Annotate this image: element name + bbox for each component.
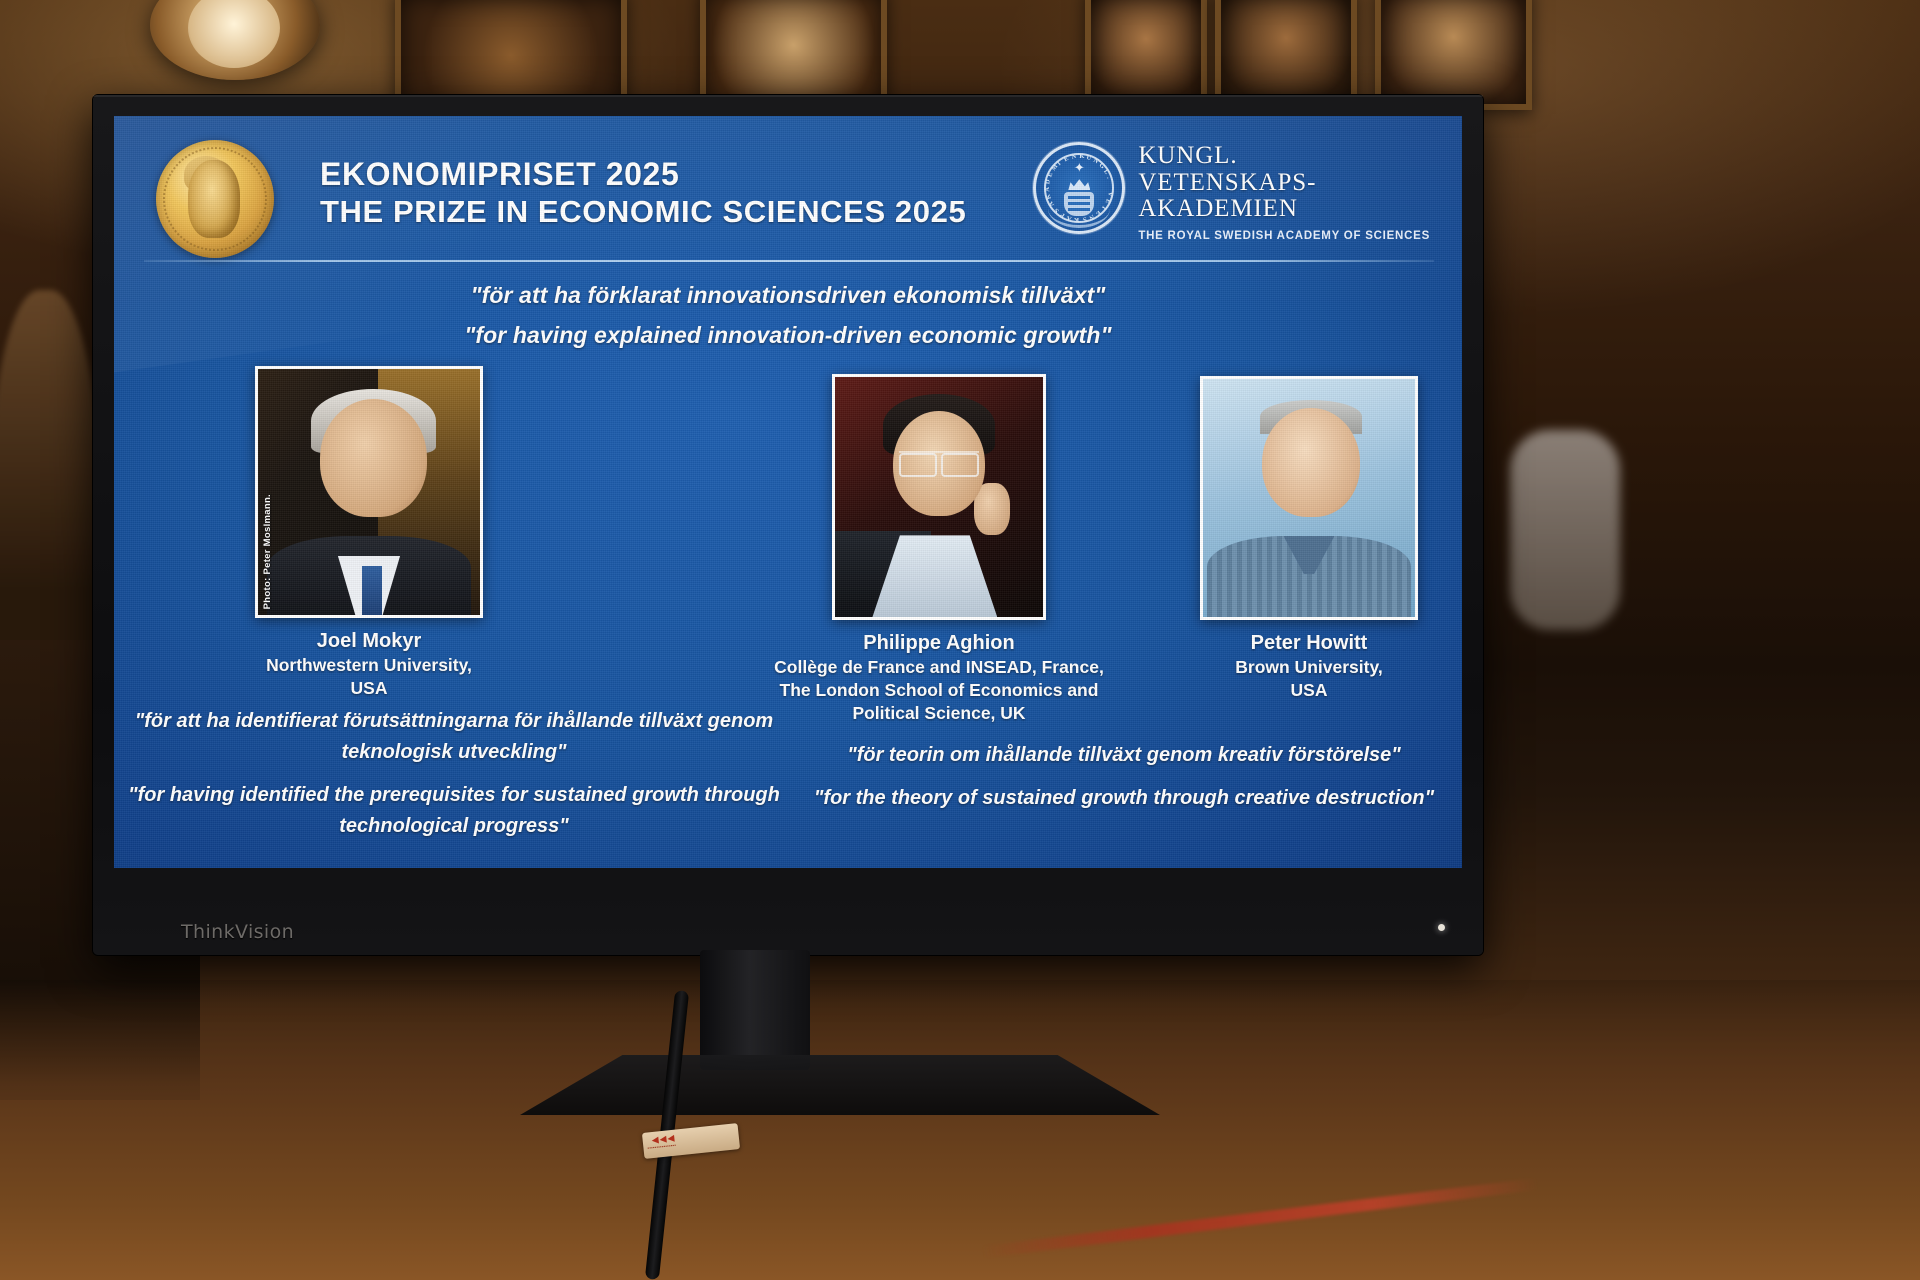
laureate-affiliation-line: The London School of Economics and (734, 679, 1144, 702)
wall-painting (1215, 0, 1357, 110)
title-swedish: EKONOMIPRISET 2025 (320, 156, 966, 194)
monitor-stand-neck (700, 950, 810, 1070)
laureate-affiliation-line: Northwestern University, (224, 654, 514, 677)
laureate-photo-aghion (832, 374, 1046, 620)
academy-subtitle: THE ROYAL SWEDISH ACADEMY OF SCIENCES (1138, 230, 1430, 242)
citations: "för att ha identifierat förutsättningar… (114, 706, 1462, 856)
laureate-name: Philippe Aghion (734, 630, 1144, 656)
laureate-affiliation-line: USA (1094, 679, 1462, 702)
seal-shield (1064, 192, 1094, 216)
monitor-brand-label: ThinkVision (181, 921, 294, 943)
screen: EKONOMIPRISET 2025 THE PRIZE IN ECONOMIC… (114, 116, 1462, 868)
portrait-glasses (899, 451, 978, 472)
portrait-art (258, 369, 480, 615)
portrait-face (320, 399, 427, 517)
portrait-face (1262, 408, 1360, 517)
laureate-affiliation-line: Collège de France and INSEAD, France, (734, 656, 1144, 679)
citation-left-swedish: "för att ha identifierat förutsättningar… (124, 706, 784, 768)
page-title: EKONOMIPRISET 2025 THE PRIZE IN ECONOMIC… (320, 156, 966, 230)
laureate-card-aghion: Philippe Aghion Collège de France and IN… (734, 374, 1144, 725)
laureate-affiliation-line: USA (224, 677, 514, 700)
monitor: EKONOMIPRISET 2025 THE PRIZE IN ECONOMIC… (93, 95, 1483, 955)
portrait-art (1203, 379, 1415, 617)
slide-header: EKONOMIPRISET 2025 THE PRIZE IN ECONOMIC… (144, 134, 1434, 266)
laureate-name: Joel Mokyr (224, 628, 514, 654)
motivation-swedish: "för att ha förklarat innovationsdriven … (114, 276, 1462, 316)
citation-left: "för att ha identifierat förutsättningar… (124, 706, 784, 842)
royal-academy-seal-icon: KUNGL. VETENSKAPSAKADEMIEN ✦ (1033, 142, 1125, 234)
portrait-tie (362, 566, 382, 615)
laureate-card-mokyr: Photo: Peter Moslmann. Joel Mokyr Northw… (224, 366, 514, 700)
power-led-indicator[interactable] (1438, 924, 1445, 931)
nobel-medal-icon (156, 140, 274, 258)
laureate-affiliation-line: Brown University, (1094, 656, 1462, 679)
medal-portrait-face (188, 160, 240, 238)
laureate-photo-howitt (1200, 376, 1418, 620)
laureate-name: Peter Howitt (1094, 630, 1462, 656)
seal-star: ✦ (1074, 160, 1085, 176)
laureate-photo-mokyr: Photo: Peter Moslmann. (255, 366, 483, 618)
table-surface (0, 980, 1920, 1280)
monitor-stand-base (520, 1055, 1160, 1115)
bezel-highlight (93, 95, 1483, 97)
laureates-row: Photo: Peter Moslmann. Joel Mokyr Northw… (114, 366, 1462, 726)
wall-painting (1375, 0, 1532, 110)
academy-line-3: AKADEMIEN (1138, 196, 1430, 223)
academy-line-2: VETENSKAPS- (1138, 170, 1430, 197)
academy-logo-text: KUNGL. VETENSKAPS- AKADEMIEN THE ROYAL S… (1138, 142, 1430, 242)
citation-right-english: "for the theory of sustained growth thro… (794, 783, 1454, 814)
citation-left-english: "for having identified the prerequisites… (124, 780, 784, 842)
person-silhouette-right (1510, 430, 1620, 630)
laureate-card-howitt: Peter Howitt Brown University, USA (1094, 376, 1462, 702)
academy-logo: KUNGL. VETENSKAPSAKADEMIEN ✦ KUNGL. VETE… (1033, 142, 1430, 242)
citation-right-swedish: "för teorin om ihållande tillväxt genom … (794, 740, 1454, 771)
academy-line-1: KUNGL. (1138, 143, 1430, 170)
header-divider (144, 260, 1434, 262)
prize-motivation: "för att ha förklarat innovationsdriven … (114, 276, 1462, 355)
citation-right: "för teorin om ihållande tillväxt genom … (794, 740, 1454, 814)
title-english: THE PRIZE IN ECONOMIC SCIENCES 2025 (320, 194, 966, 231)
photo-credit: Photo: Peter Moslmann. (262, 494, 273, 609)
portrait-art (835, 377, 1043, 617)
motivation-english: "for having explained innovation-driven … (114, 316, 1462, 356)
